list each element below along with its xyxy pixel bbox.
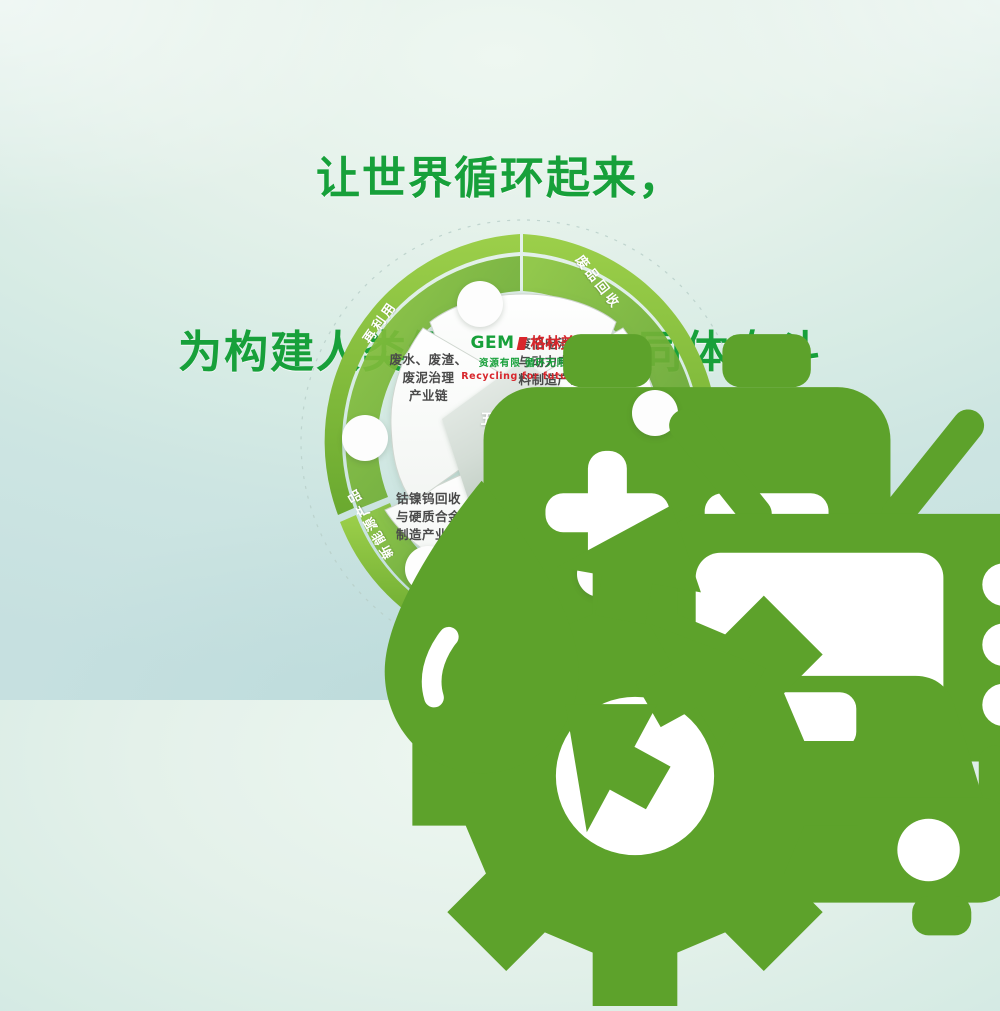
battery-icon-bubble (457, 281, 503, 327)
page-title-line-1: 让世界循环起来， (0, 150, 1000, 208)
circular-economy-diagram: 废品回收 材料再造 金属材料化 新能源产品 再利用 废旧电池回收 与动力电池材 … (293, 212, 753, 672)
water-recycle-icon-bubble (342, 415, 388, 461)
water-recycle-icon (342, 415, 802, 875)
